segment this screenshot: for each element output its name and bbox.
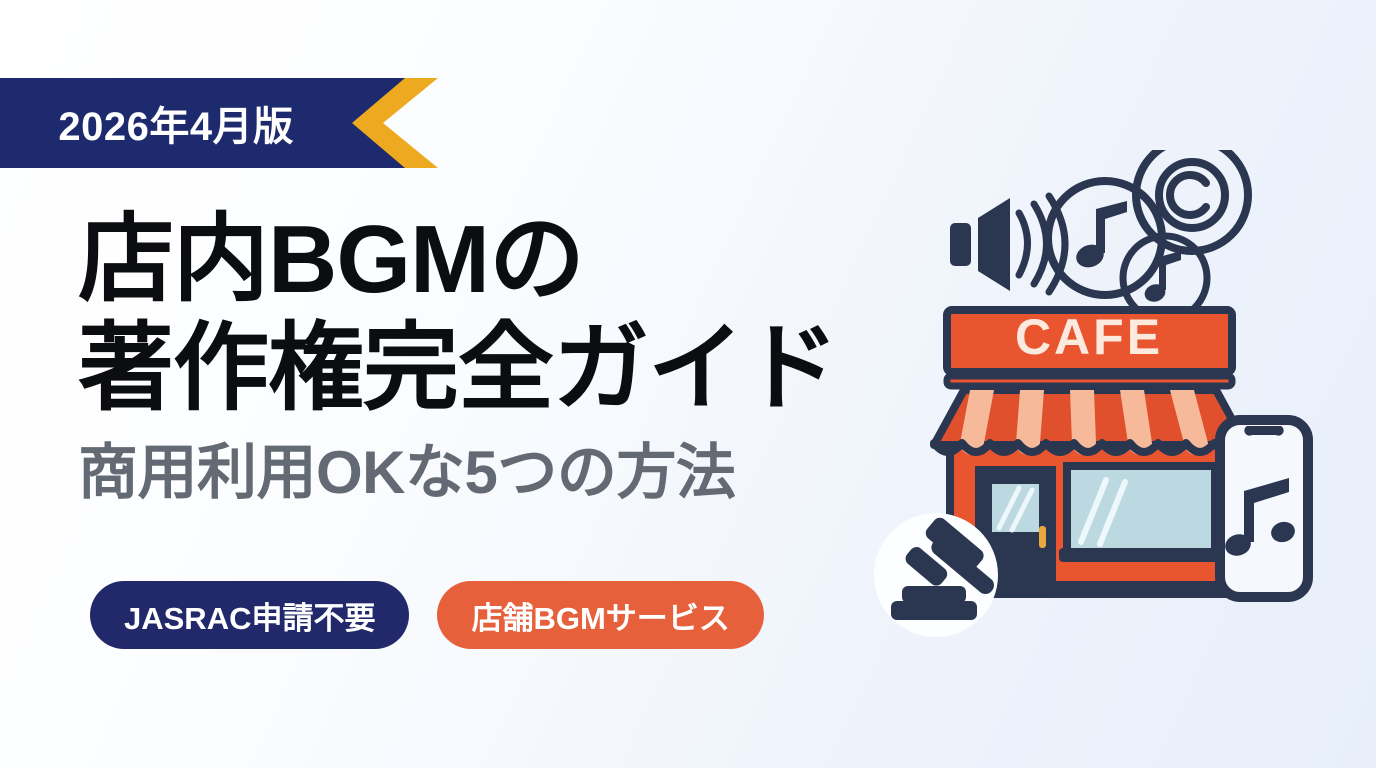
headline-block: 店内BGMの 著作権完全ガイド 商用利用OKな5つの方法	[78, 205, 958, 507]
page-subtitle: 商用利用OKな5つの方法	[78, 438, 958, 507]
banner-root: 2026年4月版 店内BGMの 著作権完全ガイド 商用利用OKな5つの方法 JA…	[0, 0, 1376, 768]
badge-jasrac-not-required[interactable]: JASRAC申請不要	[90, 581, 409, 649]
badge-shop-bgm-service[interactable]: 店舗BGMサービス	[437, 581, 763, 649]
ribbon-label: 2026年4月版	[0, 78, 352, 168]
date-ribbon: 2026年4月版	[0, 78, 438, 168]
smartphone-music-icon	[1220, 420, 1308, 597]
cafe-sign-text: CAFE	[1015, 309, 1163, 365]
door-handle	[1039, 526, 1046, 548]
illustration: CAFE	[862, 150, 1362, 650]
badge-group: JASRAC申請不要 店舗BGMサービス	[90, 581, 764, 649]
page-title-line-1: 店内BGMの	[78, 205, 958, 314]
page-title-line-2: 著作権完全ガイド	[78, 314, 958, 423]
gavel-icon	[874, 513, 998, 637]
